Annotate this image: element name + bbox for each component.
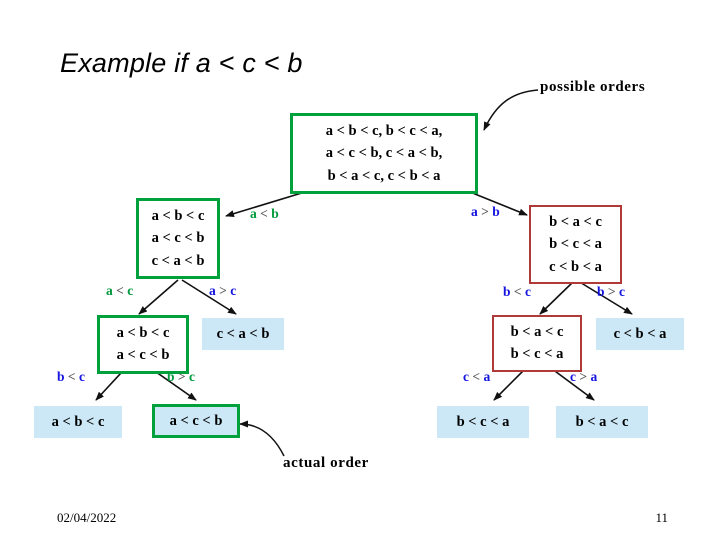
edge-label-op: > (178, 369, 186, 384)
edge-label-lhs: b (597, 284, 605, 299)
tree-node-left-right[interactable]: c < a < b (202, 318, 284, 350)
node-line: c < a < b (212, 323, 274, 345)
node-line: a < b < c (44, 411, 112, 433)
edge-label-op: < (260, 206, 268, 221)
tree-node-root[interactable]: a < b < c, b < c < a, a < c < b, c < a <… (290, 113, 478, 194)
tree-node-right-left[interactable]: b < a < c b < c < a (492, 315, 582, 372)
edge-label-lhs: a (209, 283, 216, 298)
tree-node-right-right[interactable]: c < b < a (596, 318, 684, 350)
edge-label-op: < (514, 284, 522, 299)
node-line: c < b < a (606, 323, 674, 345)
callout-possible-orders: possible orders (540, 79, 645, 96)
edge-label-rhs: c (79, 369, 85, 384)
node-line: c < a < b (146, 250, 210, 272)
node-line: b < a < c, c < b < a (300, 165, 468, 187)
node-line: a < b < c (146, 205, 210, 227)
edge-label-rhs: b (271, 206, 279, 221)
node-line: a < c < b (146, 227, 210, 249)
edge-label-rhs: c (127, 283, 133, 298)
edge-label-rhs: c (189, 369, 195, 384)
tree-leaf-b-c-a[interactable]: b < c < a (437, 406, 529, 438)
edge-label-lhs: c (463, 369, 469, 384)
tree-leaf-b-a-c[interactable]: b < a < c (556, 406, 648, 438)
node-line: b < a < c (538, 211, 613, 233)
edge-label-root-left: a < b (250, 206, 279, 222)
edge-label-left-left: a < c (106, 283, 133, 299)
footer-page-number: 11 (655, 510, 668, 526)
edge-label-lhs: b (57, 369, 65, 384)
node-line: b < c < a (447, 411, 519, 433)
tree-leaf-a-b-c[interactable]: a < b < c (34, 406, 122, 438)
edge-label-rhs: c (525, 284, 531, 299)
edge-label-rhs: a (483, 369, 490, 384)
edge-label-lhs: a (250, 206, 257, 221)
edge-label-leftleft-right: b > c (167, 369, 195, 385)
edge-label-root-right: a > b (471, 204, 500, 220)
edge-label-rhs: c (230, 283, 236, 298)
node-line: a < b < c (107, 322, 179, 344)
node-line: a < c < b (164, 410, 228, 432)
node-line: b < c < a (538, 233, 613, 255)
edge-label-lhs: a (471, 204, 478, 219)
edge-label-lhs: c (570, 369, 576, 384)
edge-label-left-right: a > c (209, 283, 236, 299)
node-line: c < b < a (538, 256, 613, 278)
node-line: b < c < a (501, 343, 573, 365)
edge-label-op: > (608, 284, 616, 299)
edge-label-op: < (68, 369, 76, 384)
tree-leaf-a-c-b-answer[interactable]: a < c < b (152, 404, 240, 438)
page-title: Example if a < c < b (60, 48, 303, 79)
edge-label-right-right: b > c (597, 284, 625, 300)
node-line: b < a < c (566, 411, 638, 433)
node-line: b < a < c (501, 321, 573, 343)
node-line: a < b < c, b < c < a, (300, 120, 468, 142)
edge-label-lhs: a (106, 283, 113, 298)
edge-label-op: < (116, 283, 124, 298)
node-line: a < c < b, c < a < b, (300, 142, 468, 164)
edge-label-rhs: b (492, 204, 500, 219)
edge-label-rhs: a (590, 369, 597, 384)
tree-node-left-left[interactable]: a < b < c a < c < b (97, 315, 189, 374)
edge-label-lhs: b (167, 369, 175, 384)
edge-label-rightleft-left: c < a (463, 369, 490, 385)
edge-label-rhs: c (619, 284, 625, 299)
footer-date: 02/04/2022 (57, 510, 116, 526)
tree-node-right[interactable]: b < a < c b < c < a c < b < a (529, 205, 622, 284)
edge-label-rightleft-right: c > a (570, 369, 597, 385)
callout-actual-order: actual order (283, 455, 369, 472)
edge-label-op: > (219, 283, 227, 298)
tree-node-left[interactable]: a < b < c a < c < b c < a < b (136, 198, 220, 279)
edge-label-lhs: b (503, 284, 511, 299)
edge-label-right-left: b < c (503, 284, 531, 300)
edge-label-op: > (481, 204, 489, 219)
slide-canvas: Example if a < c < b possible orders act… (0, 0, 720, 540)
edge-label-op: < (472, 369, 480, 384)
node-line: a < c < b (107, 344, 179, 366)
edge-label-leftleft-left: b < c (57, 369, 85, 385)
edge-label-op: > (579, 369, 587, 384)
